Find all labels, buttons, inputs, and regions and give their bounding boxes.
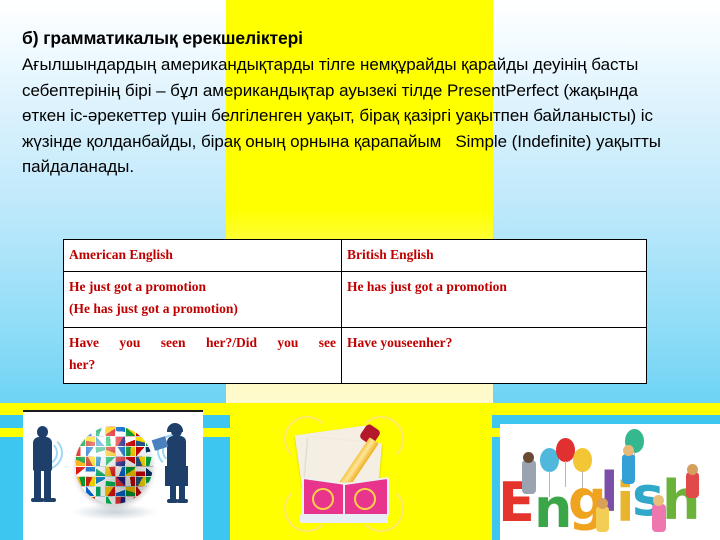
person-left-shoe-b xyxy=(43,498,56,502)
comparison-table-wrapper: American English British English He just… xyxy=(63,239,624,384)
child-far-right xyxy=(686,472,699,498)
open-book-base xyxy=(300,514,388,523)
person-left-leg-b xyxy=(44,470,51,500)
person-right-hair xyxy=(167,423,183,432)
flag-tile xyxy=(145,496,153,504)
child-right xyxy=(652,504,666,532)
table-row: Have you seen her?/Did you see her? Have… xyxy=(64,328,647,384)
child-far-right-head xyxy=(687,464,698,475)
table-row: He just got a promotion (He has just got… xyxy=(64,272,647,328)
ornate-yellow-frame xyxy=(288,418,398,528)
globe-reflection xyxy=(73,504,157,520)
header-british-english: British English xyxy=(342,240,647,272)
slide-text-block: б) грамматикалық ерекшеліктері Ағылшында… xyxy=(22,26,662,180)
header-american-english: American English xyxy=(64,240,342,272)
american-row2-line2: her? xyxy=(69,354,336,376)
child-center xyxy=(596,506,609,532)
table-header-row: American English British English xyxy=(64,240,647,272)
cell-american-row2: Have you seen her?/Did you see her? xyxy=(64,328,342,384)
letter-n: n xyxy=(534,482,572,536)
slide-paragraph: Ағылшындардың американдықтарды тілге нем… xyxy=(22,52,662,180)
globe-with-flags-and-people xyxy=(23,410,203,540)
slide-heading: б) грамматикалық ерекшеліктері xyxy=(22,26,662,51)
cell-british-row1: He has just got a promotion xyxy=(342,272,647,328)
child-right-head xyxy=(653,495,664,506)
american-vs-british-table: American English British English He just… xyxy=(63,239,647,384)
person-left-leg-a xyxy=(34,470,41,500)
cell-british-row2: Have youseenher? xyxy=(342,328,647,384)
person-right-skirt xyxy=(165,466,188,486)
american-row1-line1: He just got a promotion xyxy=(69,276,336,298)
slide-canvas: б) грамматикалық ерекшеліктері Ағылшында… xyxy=(0,0,720,540)
book-ornament-right xyxy=(354,488,376,510)
american-row2-line1: Have you seen her?/Did you see xyxy=(69,332,336,354)
globe-icon xyxy=(75,426,153,504)
child-left xyxy=(522,460,536,494)
book-ornament-left xyxy=(312,488,334,510)
child-left-head xyxy=(523,452,534,463)
person-left-body xyxy=(33,437,52,471)
american-row1-line2: (He has just got a promotion) xyxy=(69,298,336,320)
child-on-letters xyxy=(622,454,635,484)
child-center-head xyxy=(597,498,608,509)
globe-gloss xyxy=(75,426,153,504)
person-right-shoe-b xyxy=(177,499,188,503)
cell-american-row1: He just got a promotion (He has just got… xyxy=(64,272,342,328)
person-right-body xyxy=(167,436,186,468)
english-letters-with-children: E n g l i s h xyxy=(500,424,720,540)
pencil-over-open-book xyxy=(230,404,492,540)
child-on-letters-head xyxy=(623,445,634,456)
